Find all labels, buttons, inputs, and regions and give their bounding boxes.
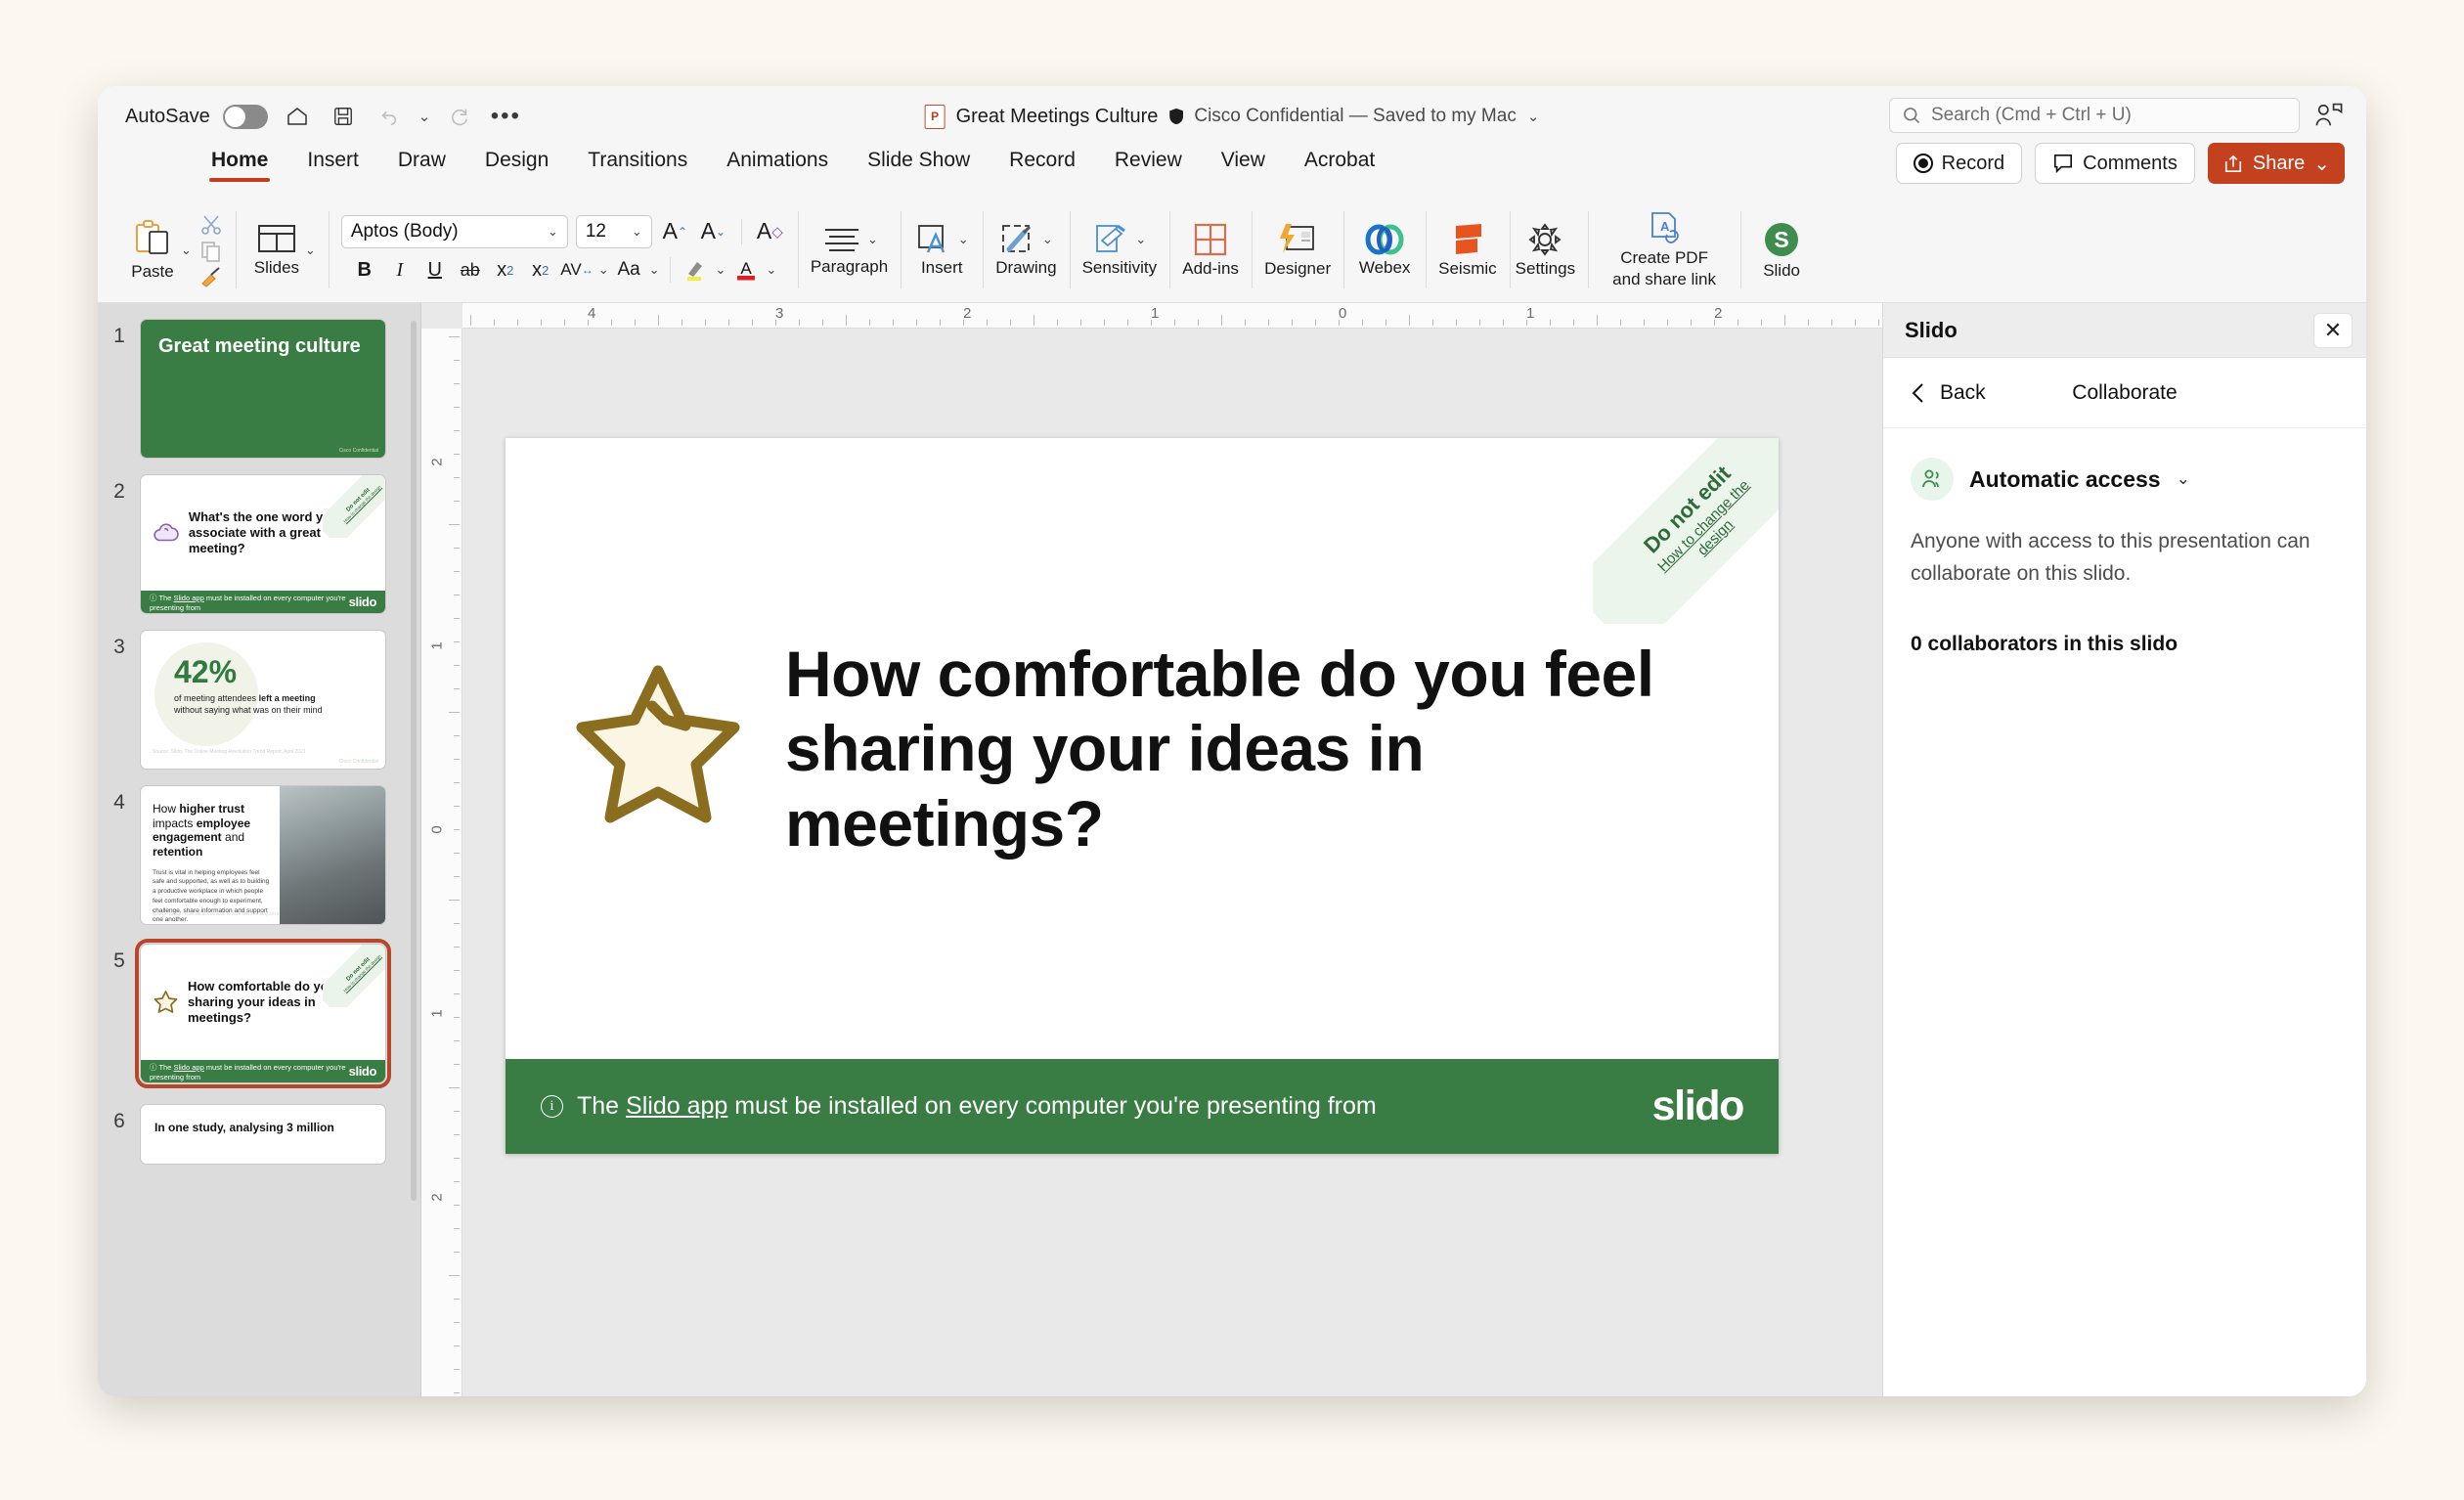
ruler-mark bbox=[1409, 315, 1410, 326]
save-icon[interactable] bbox=[327, 102, 360, 131]
slido-panel-header: Slido ✕ bbox=[1883, 303, 2366, 358]
addins-group: Add-ins bbox=[1169, 198, 1252, 302]
undo-icon[interactable] bbox=[373, 102, 406, 131]
ruler-h-tick-2: 2 bbox=[963, 305, 971, 322]
thumbnail-2-ribbon-sub: How to change the design bbox=[342, 484, 381, 523]
ruler-mark bbox=[1292, 320, 1293, 326]
thumbnail-scrollbar[interactable] bbox=[411, 321, 417, 1201]
ruler-mark bbox=[454, 1017, 460, 1018]
slido-icon: S bbox=[1762, 220, 1801, 259]
ruler-v-tick-1b: 1 bbox=[429, 1009, 446, 1017]
font-size-chevron-icon: ⌄ bbox=[632, 224, 642, 240]
ruler-mark bbox=[1784, 315, 1785, 326]
chevron-down-icon[interactable]: ⌄ bbox=[2177, 469, 2190, 489]
font-size-select[interactable]: 12 ⌄ bbox=[576, 215, 652, 248]
addins-label: Add-ins bbox=[1182, 259, 1239, 278]
shrink-font-button[interactable]: A⌄ bbox=[698, 216, 728, 246]
vertical-ruler[interactable]: 2 1 0 1 2 bbox=[421, 329, 462, 1396]
ribbon-tabs: Home Insert Draw Design Transitions Anim… bbox=[98, 147, 2366, 198]
change-case-button[interactable]: Aa bbox=[614, 255, 644, 286]
ruler-mark bbox=[1080, 320, 1081, 326]
designer-button[interactable]: Designer bbox=[1264, 222, 1331, 278]
thumbnail-5-footer-text: ⓘ The Slido app must be installed on eve… bbox=[150, 1062, 349, 1081]
tab-acrobat[interactable]: Acrobat bbox=[1285, 147, 1394, 182]
ruler-mark bbox=[1479, 320, 1480, 326]
thumbnail-number-5: 5 bbox=[98, 945, 141, 973]
ruler-mark bbox=[1456, 320, 1457, 326]
thumbnail-4[interactable]: How higher trust impacts employee engage… bbox=[141, 786, 385, 924]
slide-footer: i The Slido app must be installed on eve… bbox=[506, 1059, 1779, 1154]
ruler-mark bbox=[454, 1299, 460, 1300]
slide-thumbnail-pane[interactable]: 1 Great meeting culture Cisco Confidenti… bbox=[98, 303, 420, 1396]
title-right-group: Search (Cmd + Ctrl + U) bbox=[1889, 98, 2345, 133]
slide-footer-text: The Slido app must be installed on every… bbox=[577, 1092, 1377, 1121]
ruler-mark bbox=[454, 1228, 460, 1229]
insert-label: Insert bbox=[921, 258, 963, 277]
ruler-mark bbox=[454, 618, 460, 619]
insert-group: ⌄ Insert bbox=[901, 198, 983, 302]
thumbnail-5-ribbon-sub: How to change the design bbox=[342, 953, 381, 993]
ruler-mark bbox=[517, 320, 518, 326]
tab-insert[interactable]: Insert bbox=[287, 147, 378, 182]
thumbnail-1-title: Great meeting culture bbox=[141, 320, 385, 357]
ruler-h-tick-1: 1 bbox=[1151, 305, 1159, 322]
ruler-mark bbox=[454, 1205, 460, 1206]
ruler-mark bbox=[1034, 315, 1034, 326]
ruler-v-tick-2b: 2 bbox=[429, 1193, 446, 1201]
drawing-group: ⌄ Drawing bbox=[983, 198, 1069, 302]
tab-draw[interactable]: Draw bbox=[378, 147, 465, 182]
ruler-mark bbox=[454, 1040, 460, 1041]
record-button[interactable]: Record bbox=[1896, 143, 2022, 184]
insert-chevron-icon: ⌄ bbox=[958, 232, 969, 247]
thumbnail-row-1[interactable]: 1 Great meeting culture Cisco Confidenti… bbox=[98, 311, 420, 466]
ruler-mark bbox=[470, 315, 471, 326]
ruler-mark bbox=[1057, 320, 1058, 326]
settings-button[interactable]: Settings bbox=[1516, 222, 1575, 278]
autosave-label: AutoSave bbox=[125, 106, 210, 128]
copy-icon[interactable] bbox=[199, 240, 223, 263]
font-color-icon: A bbox=[734, 257, 758, 283]
share-icon bbox=[2222, 154, 2244, 173]
create-pdf-line1: Create PDF bbox=[1620, 248, 1708, 267]
slido-group: S Slido bbox=[1740, 198, 1823, 302]
thumbnail-2-footer-text: ⓘ The Slido app must be installed on eve… bbox=[150, 593, 349, 612]
current-slide[interactable]: How comfortable do you feel sharing your… bbox=[506, 438, 1779, 1154]
search-icon bbox=[1902, 106, 1921, 125]
ruler-mark bbox=[1620, 320, 1621, 326]
tab-design[interactable]: Design bbox=[465, 147, 568, 182]
ruler-mark bbox=[454, 1252, 460, 1253]
ruler-mark bbox=[449, 900, 460, 901]
undo-chevron-icon[interactable]: ⌄ bbox=[418, 108, 431, 125]
ruler-mark bbox=[454, 1181, 460, 1182]
comments-button[interactable]: Comments bbox=[2035, 143, 2195, 184]
ruler-mark bbox=[658, 315, 659, 326]
webex-icon bbox=[1363, 223, 1406, 256]
thumbnail-4-source: Source: Gallup, Trust influences want to… bbox=[153, 911, 279, 916]
addins-icon bbox=[1192, 222, 1229, 257]
ruler-mark bbox=[1644, 320, 1645, 326]
slide-star-graphic bbox=[566, 659, 750, 838]
star-icon bbox=[566, 659, 750, 833]
ruler-mark bbox=[1526, 320, 1527, 326]
ruler-mark bbox=[775, 320, 776, 326]
ruler-mark bbox=[454, 1392, 460, 1393]
create-pdf-line2: and share link bbox=[1612, 270, 1716, 288]
ruler-mark bbox=[454, 1064, 460, 1065]
thumbnail-1-background: Great meeting culture Cisco Confidential bbox=[141, 320, 385, 458]
title-action-buttons: Record Comments Share ⌄ bbox=[1896, 143, 2345, 184]
settings-label: Settings bbox=[1516, 259, 1575, 278]
paragraph-chevron-icon: ⌄ bbox=[867, 232, 878, 247]
ruler-mark bbox=[454, 595, 460, 596]
thumbnail-5-footer: ⓘ The Slido app must be installed on eve… bbox=[141, 1060, 385, 1082]
webex-button[interactable]: Webex bbox=[1356, 223, 1413, 277]
tab-transitions[interactable]: Transitions bbox=[568, 147, 707, 182]
ruler-mark bbox=[1174, 320, 1175, 326]
slido-panel: Slido ✕ Back Collaborate bbox=[1882, 303, 2366, 1396]
ruler-mark bbox=[454, 548, 460, 549]
thumbnail-6[interactable]: In one study, analysing 3 million bbox=[141, 1105, 385, 1164]
sensitivity-label: Sensitivity bbox=[1082, 258, 1158, 277]
webex-group: Webex bbox=[1343, 198, 1426, 302]
thumbnail-2-footer: ⓘ The Slido app must be installed on eve… bbox=[141, 591, 385, 613]
ruler-mark bbox=[454, 970, 460, 971]
search-placeholder: Search (Cmd + Ctrl + U) bbox=[1931, 105, 2132, 126]
ruler-v-tick-2: 2 bbox=[429, 458, 446, 465]
editor-body: 1 Great meeting culture Cisco Confidenti… bbox=[98, 303, 2366, 1396]
ruler-mark bbox=[454, 759, 460, 760]
highlight-chevron-icon[interactable]: ⌄ bbox=[716, 262, 726, 278]
paragraph-group: ⌄ Paragraph bbox=[798, 198, 901, 302]
font-name-select[interactable]: Aptos (Body) ⌄ bbox=[341, 215, 568, 248]
ruler-mark bbox=[454, 688, 460, 689]
ruler-mark bbox=[454, 454, 460, 455]
ruler-mark bbox=[454, 1322, 460, 1323]
status-chevron-icon[interactable]: ⌄ bbox=[1527, 108, 1540, 125]
ruler-mark bbox=[449, 524, 460, 525]
slides-button[interactable]: Slides bbox=[248, 223, 305, 277]
ruler-mark bbox=[611, 320, 612, 326]
thumbnail-number-3: 3 bbox=[98, 631, 141, 659]
paragraph-label: Paragraph bbox=[811, 257, 888, 276]
chevron-left-icon bbox=[1911, 381, 1926, 405]
horizontal-ruler[interactable]: 4 3 2 1 0 1 2 3 bbox=[462, 303, 1882, 329]
font-size-value: 12 bbox=[586, 221, 606, 243]
ruler-mark bbox=[1738, 320, 1738, 326]
ruler-mark bbox=[1268, 320, 1269, 326]
thumbnail-1-confidential: Cisco Confidential bbox=[339, 448, 378, 454]
strikethrough-button[interactable]: ab bbox=[455, 255, 485, 286]
tab-animations[interactable]: Animations bbox=[707, 147, 848, 182]
case-chevron-icon[interactable]: ⌄ bbox=[649, 262, 660, 278]
ruler-mark bbox=[1831, 320, 1832, 326]
cut-icon[interactable] bbox=[199, 213, 223, 237]
ruler-mark bbox=[454, 923, 460, 924]
slido-panel-body: Automatic access ⌄ Anyone with access to… bbox=[1883, 428, 2366, 656]
ruler-mark bbox=[1878, 320, 1879, 326]
tab-view[interactable]: View bbox=[1202, 147, 1285, 182]
font-name-chevron-icon: ⌄ bbox=[548, 224, 558, 240]
sensitivity-button[interactable]: ⌄ Sensitivity bbox=[1082, 223, 1158, 277]
thumbnail-5-do-not-edit-ribbon: Do not edit How to change the design bbox=[323, 945, 385, 1007]
subscript-button[interactable]: x2 bbox=[525, 255, 555, 286]
thumbnail-row-6[interactable]: 6 In one study, analysing 3 million bbox=[98, 1091, 420, 1172]
ruler-v-tick-0: 0 bbox=[429, 825, 446, 833]
slides-icon bbox=[256, 223, 297, 256]
character-spacing-button[interactable]: AV↔ bbox=[560, 255, 593, 286]
font-row-top: Aptos (Body) ⌄ 12 ⌄ A⌃ A⌄ A◇ bbox=[341, 215, 785, 248]
paste-chevron-icon[interactable]: ⌄ bbox=[181, 243, 192, 258]
drawing-brush-icon bbox=[999, 223, 1038, 256]
divider bbox=[670, 257, 671, 283]
slido-panel-nav: Back Collaborate bbox=[1883, 358, 2366, 428]
thumbnail-row-3[interactable]: 3 42% of meeting attendees left a meetin… bbox=[98, 622, 420, 777]
star-icon bbox=[153, 977, 179, 1028]
paste-button[interactable]: Paste bbox=[124, 219, 181, 281]
ruler-mark bbox=[916, 320, 917, 326]
ruler-mark bbox=[454, 947, 460, 948]
ruler-mark bbox=[454, 665, 460, 666]
comments-label: Comments bbox=[2083, 153, 2178, 175]
comment-icon bbox=[2052, 154, 2074, 173]
ribbon-toolbar: Paste ⌄ Slides bbox=[98, 198, 2366, 303]
drawing-button[interactable]: ⌄ Drawing bbox=[995, 223, 1056, 277]
ruler-mark bbox=[1010, 320, 1011, 326]
thumbnail-2[interactable]: What's the one word you associate with a… bbox=[141, 475, 385, 613]
webex-label: Webex bbox=[1359, 258, 1411, 277]
shield-icon bbox=[1168, 108, 1183, 125]
thumbnail-row-4[interactable]: 4 How higher trust impacts employee enga… bbox=[98, 777, 420, 933]
ruler-mark bbox=[454, 1111, 460, 1112]
ruler-mark bbox=[1761, 320, 1762, 326]
thumbnail-number-4: 4 bbox=[98, 786, 141, 815]
paragraph-button[interactable]: ⌄ Paragraph bbox=[811, 224, 888, 276]
powerpoint-window: AutoSave ⌄ bbox=[98, 86, 2366, 1396]
thumbnail-3-sub: of meeting attendees left a meeting with… bbox=[174, 693, 385, 716]
seismic-group: Seismic bbox=[1426, 198, 1510, 302]
ruler-mark bbox=[822, 320, 823, 326]
share-chevron-icon: ⌄ bbox=[2313, 152, 2330, 176]
ruler-mark bbox=[682, 320, 682, 326]
close-icon[interactable]: ✕ bbox=[2313, 313, 2353, 348]
seismic-button[interactable]: Seismic bbox=[1438, 222, 1497, 278]
ruler-mark bbox=[799, 320, 800, 326]
ruler-h-tick-1b: 1 bbox=[1526, 305, 1534, 322]
home-icon[interactable] bbox=[281, 102, 314, 131]
ruler-mark bbox=[454, 1369, 460, 1370]
back-label: Back bbox=[1940, 381, 1986, 405]
document-title-group: P Great Meetings Culture Cisco Confident… bbox=[925, 105, 1540, 129]
slido-ribbon-label: Slido bbox=[1763, 261, 1800, 280]
format-painter-icon[interactable] bbox=[199, 266, 223, 287]
ruler-mark bbox=[454, 407, 460, 408]
ruler-mark bbox=[963, 320, 964, 326]
ruler-mark bbox=[987, 320, 988, 326]
ruler-mark bbox=[588, 320, 589, 326]
svg-text:S: S bbox=[1774, 227, 1788, 252]
thumbnail-row-2[interactable]: 2 What's the one word you associate with… bbox=[98, 466, 420, 622]
font-color-chevron-icon[interactable]: ⌄ bbox=[766, 262, 776, 278]
ruler-mark bbox=[1362, 320, 1363, 326]
tab-review[interactable]: Review bbox=[1095, 147, 1202, 182]
insert-button[interactable]: ⌄ Insert bbox=[913, 223, 970, 277]
tab-record[interactable]: Record bbox=[990, 147, 1095, 182]
thumbnail-2-slido-logo: slido bbox=[349, 595, 376, 609]
font-row-bottom: B I U ab x2 x2 AV↔ ⌄ Aa ⌄ ⌄ bbox=[349, 255, 776, 286]
ruler-mark bbox=[454, 853, 460, 854]
svg-text:A: A bbox=[740, 259, 752, 278]
ruler-h-tick-0: 0 bbox=[1339, 305, 1346, 322]
font-group: Aptos (Body) ⌄ 12 ⌄ A⌃ A⌄ A◇ B I U ab x2… bbox=[329, 198, 798, 302]
ruler-mark bbox=[1432, 320, 1433, 326]
ruler-mark bbox=[454, 782, 460, 783]
ruler-h-tick-2b: 2 bbox=[1714, 305, 1722, 322]
ruler-mark bbox=[1386, 320, 1386, 326]
ruler-mark bbox=[1104, 320, 1105, 326]
ruler-mark bbox=[1221, 315, 1222, 326]
thumbnail-2-do-not-edit-ribbon: Do not edit How to change the design bbox=[323, 475, 385, 538]
sensitivity-chevron-icon: ⌄ bbox=[1135, 232, 1146, 247]
ruler-mark bbox=[494, 320, 495, 326]
thumbnail-3-source: Source: Slido, The Online Meeting Revolu… bbox=[153, 749, 306, 755]
slide-title[interactable]: How comfortable do you feel sharing your… bbox=[785, 637, 1665, 861]
ruler-mark bbox=[1339, 320, 1340, 326]
more-icon[interactable]: ••• bbox=[489, 102, 522, 131]
thumbnail-number-6: 6 bbox=[98, 1105, 141, 1133]
superscript-button[interactable]: x2 bbox=[490, 255, 520, 286]
ruler-mark bbox=[454, 430, 460, 431]
ruler-mark bbox=[454, 1134, 460, 1135]
thumbnail-row-5[interactable]: 5 How comfortable do you feel sharing yo… bbox=[98, 933, 420, 1091]
ruler-mark bbox=[454, 735, 460, 736]
ruler-mark bbox=[1597, 315, 1598, 326]
thumbnail-5[interactable]: How comfortable do you feel sharing your… bbox=[141, 945, 385, 1082]
slides-chevron-icon[interactable]: ⌄ bbox=[305, 243, 316, 258]
designer-icon bbox=[1278, 222, 1317, 257]
designer-label: Designer bbox=[1264, 259, 1331, 278]
addins-button[interactable]: Add-ins bbox=[1182, 222, 1239, 278]
automatic-access-row[interactable]: Automatic access ⌄ bbox=[1911, 458, 2339, 501]
insert-textbox-icon bbox=[915, 223, 954, 256]
slides-group: Slides ⌄ bbox=[236, 198, 329, 302]
svg-text:A: A bbox=[1660, 219, 1670, 234]
gear-icon bbox=[1525, 222, 1564, 257]
bold-button[interactable]: B bbox=[349, 255, 379, 286]
autosave-toggle[interactable] bbox=[223, 105, 268, 129]
ruler-mark bbox=[449, 712, 460, 713]
slide-content: How comfortable do you feel sharing your… bbox=[506, 438, 1779, 1059]
divider bbox=[741, 219, 742, 244]
title-bar: AutoSave ⌄ bbox=[98, 86, 2366, 147]
panel-description: Anyone with access to this presentation … bbox=[1911, 526, 2339, 590]
thumbnail-number-1: 1 bbox=[98, 320, 141, 348]
record-icon bbox=[1914, 154, 1933, 173]
font-color-button[interactable]: A bbox=[730, 255, 761, 286]
drawing-chevron-icon: ⌄ bbox=[1042, 232, 1053, 247]
redo-icon[interactable] bbox=[443, 102, 476, 131]
ruler-mark bbox=[705, 320, 706, 326]
document-status: Cisco Confidential — Saved to my Mac bbox=[1194, 106, 1516, 127]
italic-button[interactable]: I bbox=[384, 255, 415, 286]
ruler-mark bbox=[1198, 320, 1199, 326]
sensitivity-icon bbox=[1092, 223, 1131, 256]
document-name[interactable]: Great Meetings Culture bbox=[956, 106, 1159, 128]
slides-label: Slides bbox=[254, 258, 299, 277]
thumbnail-4-photo bbox=[280, 786, 385, 924]
cloud-icon bbox=[153, 511, 180, 554]
share-label: Share bbox=[2253, 153, 2305, 175]
designer-group: Designer bbox=[1252, 198, 1343, 302]
record-label: Record bbox=[1942, 153, 2004, 175]
ruler-mark bbox=[728, 320, 729, 326]
highlighter-icon bbox=[683, 257, 707, 283]
ruler-mark bbox=[940, 320, 941, 326]
paste-icon bbox=[133, 219, 172, 260]
highlight-color-button[interactable] bbox=[681, 255, 711, 286]
ruler-mark bbox=[1714, 320, 1715, 326]
thumbnail-3-confidential: Cisco Confidential bbox=[339, 759, 378, 765]
ruler-mark bbox=[869, 320, 870, 326]
thumbnail-6-title: In one study, analysing 3 million bbox=[141, 1105, 385, 1134]
grow-font-button[interactable]: A⌃ bbox=[660, 216, 690, 246]
share-button[interactable]: Share ⌄ bbox=[2208, 143, 2345, 184]
ruler-mark bbox=[1245, 320, 1246, 326]
search-input[interactable]: Search (Cmd + Ctrl + U) bbox=[1889, 98, 2300, 133]
thumbnail-4-title: How higher trust impacts employee engage… bbox=[153, 802, 270, 860]
clipboard-group: Paste ⌄ bbox=[111, 198, 236, 302]
ruler-mark bbox=[454, 806, 460, 807]
people-icon bbox=[1911, 458, 1954, 501]
ruler-mark bbox=[893, 320, 894, 326]
create-pdf-group: A Create PDF and share link bbox=[1588, 198, 1740, 302]
collaborators-icon[interactable] bbox=[2313, 101, 2345, 130]
ruler-mark bbox=[1667, 320, 1668, 326]
slido-ribbon-button[interactable]: S Slido bbox=[1753, 220, 1810, 280]
ruler-mark bbox=[564, 320, 565, 326]
underline-button[interactable]: U bbox=[419, 255, 450, 286]
thumbnail-3[interactable]: 42% of meeting attendees left a meeting … bbox=[141, 631, 385, 769]
clear-formatting-button[interactable]: A◇ bbox=[755, 216, 785, 246]
create-pdf-button[interactable]: A Create PDF and share link bbox=[1601, 211, 1728, 287]
slide-footer-left: i The Slido app must be installed on eve… bbox=[541, 1092, 1377, 1121]
thumbnail-1[interactable]: Great meeting culture Cisco Confidential bbox=[141, 320, 385, 458]
ruler-mark bbox=[454, 1346, 460, 1346]
settings-group: Settings bbox=[1510, 198, 1588, 302]
panel-nav-title: Collaborate bbox=[2072, 381, 2177, 405]
ruler-mark bbox=[454, 477, 460, 478]
spacing-chevron-icon[interactable]: ⌄ bbox=[598, 262, 609, 278]
ruler-mark bbox=[1503, 320, 1504, 326]
tab-home[interactable]: Home bbox=[192, 147, 287, 182]
seismic-label: Seismic bbox=[1438, 259, 1497, 278]
font-name-value: Aptos (Body) bbox=[351, 221, 459, 243]
pdf-link-icon: A bbox=[1646, 211, 1683, 246]
ruler-mark bbox=[454, 641, 460, 642]
info-icon: i bbox=[541, 1095, 563, 1118]
tab-slide-show[interactable]: Slide Show bbox=[848, 147, 990, 182]
slide-canvas-area[interactable]: 4 3 2 1 0 1 2 3 2 1 0 1 2 bbox=[420, 303, 1882, 1396]
back-button[interactable]: Back bbox=[1883, 381, 1986, 405]
ruler-mark bbox=[752, 320, 753, 326]
ruler-mark bbox=[449, 1275, 460, 1276]
ruler-mark bbox=[454, 571, 460, 572]
powerpoint-icon: P bbox=[925, 105, 946, 129]
slido-panel-title: Slido bbox=[1905, 318, 1958, 343]
ruler-mark bbox=[541, 320, 542, 326]
ruler-mark bbox=[1808, 320, 1809, 326]
